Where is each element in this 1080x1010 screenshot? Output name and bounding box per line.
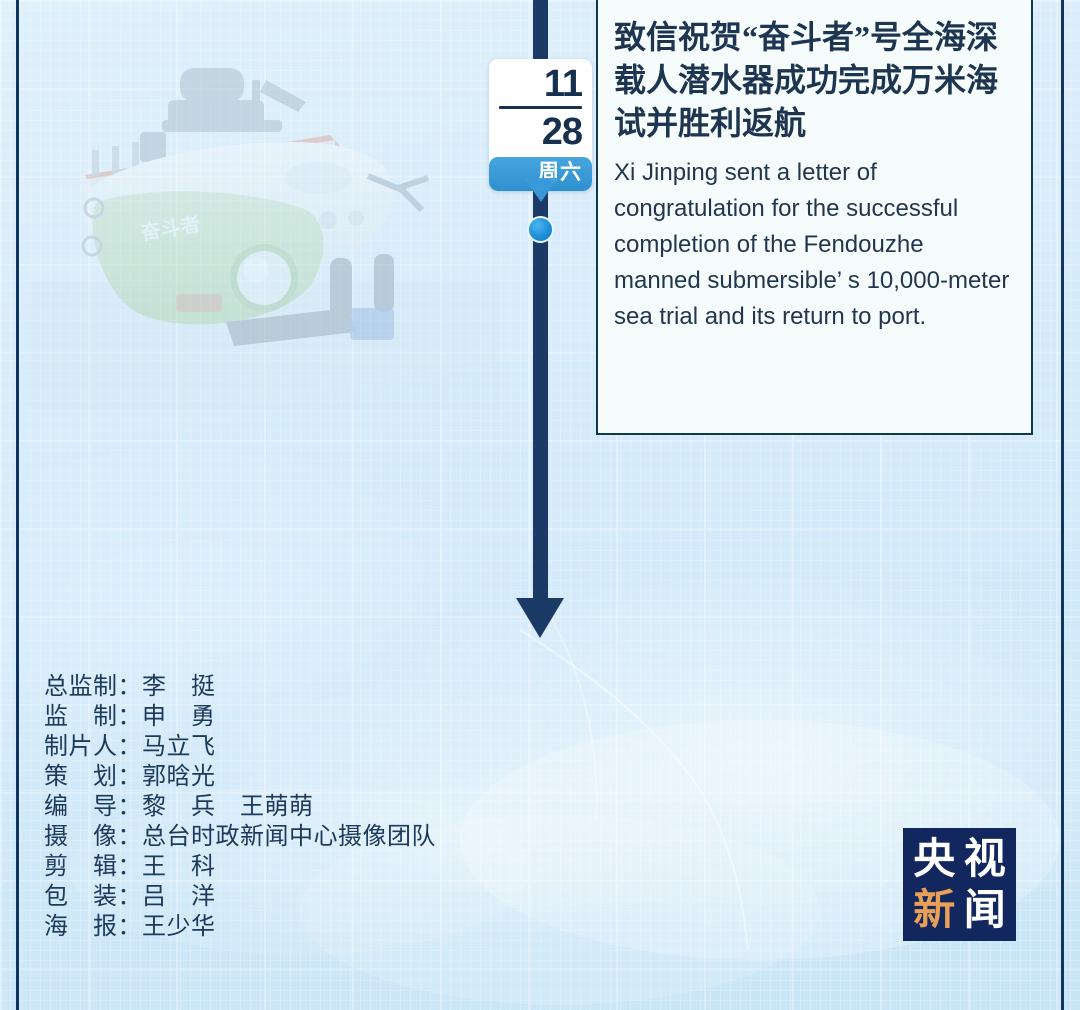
logo-glyph-xin: 新 — [913, 888, 955, 932]
logo-glyph-shi: 视 — [964, 837, 1006, 881]
date-divider — [499, 106, 582, 109]
frame-rule-left — [16, 0, 19, 1010]
credits-block: 总监制：李 挺 监 制：申 勇 制片人：马立飞 策 划：郭晗光 编 导：黎 兵 … — [44, 672, 514, 942]
credit-line: 海 报：王少华 — [44, 912, 514, 942]
frame-rule-right — [1061, 0, 1064, 1010]
triangle-down-icon — [516, 598, 564, 638]
news-headline-chinese: 致信祝贺“奋斗者”号全海深载人潜水器成功完成万米海试并胜利返航 — [614, 16, 1013, 145]
submarine-photo: 奋斗者 — [30, 50, 500, 410]
credit-line: 监 制：申 勇 — [44, 702, 514, 732]
credit-line: 剪 辑：王 科 — [44, 852, 514, 882]
credit-line: 包 装：吕 洋 — [44, 882, 514, 912]
cctv-news-logo: 央 视 新 闻 — [903, 828, 1016, 941]
timeline-dot-icon[interactable] — [527, 216, 554, 243]
date-day: 28 — [499, 111, 582, 153]
logo-glyph-wen: 闻 — [964, 888, 1006, 932]
date-month: 11 — [499, 63, 582, 105]
date-card-numbers: 11 28 — [489, 59, 592, 158]
credit-line: 总监制：李 挺 — [44, 672, 514, 702]
news-card: 致信祝贺“奋斗者”号全海深载人潜水器成功完成万米海试并胜利返航 Xi Jinpi… — [596, 0, 1033, 435]
date-card[interactable]: 11 28 周六 — [489, 59, 592, 191]
poster-canvas: 奋斗者 11 — [0, 0, 1080, 1010]
credit-line: 摄 像：总台时政新闻中心摄像团队 — [44, 822, 514, 852]
logo-glyph-yang: 央 — [913, 837, 955, 881]
news-body-english: Xi Jinping sent a letter of congratulati… — [614, 155, 1013, 335]
credit-line: 策 划：郭晗光 — [44, 762, 514, 792]
date-card-pointer-icon — [524, 178, 558, 202]
credit-line: 编 导：黎 兵 王萌萌 — [44, 792, 514, 822]
credit-line: 制片人：马立飞 — [44, 732, 514, 762]
